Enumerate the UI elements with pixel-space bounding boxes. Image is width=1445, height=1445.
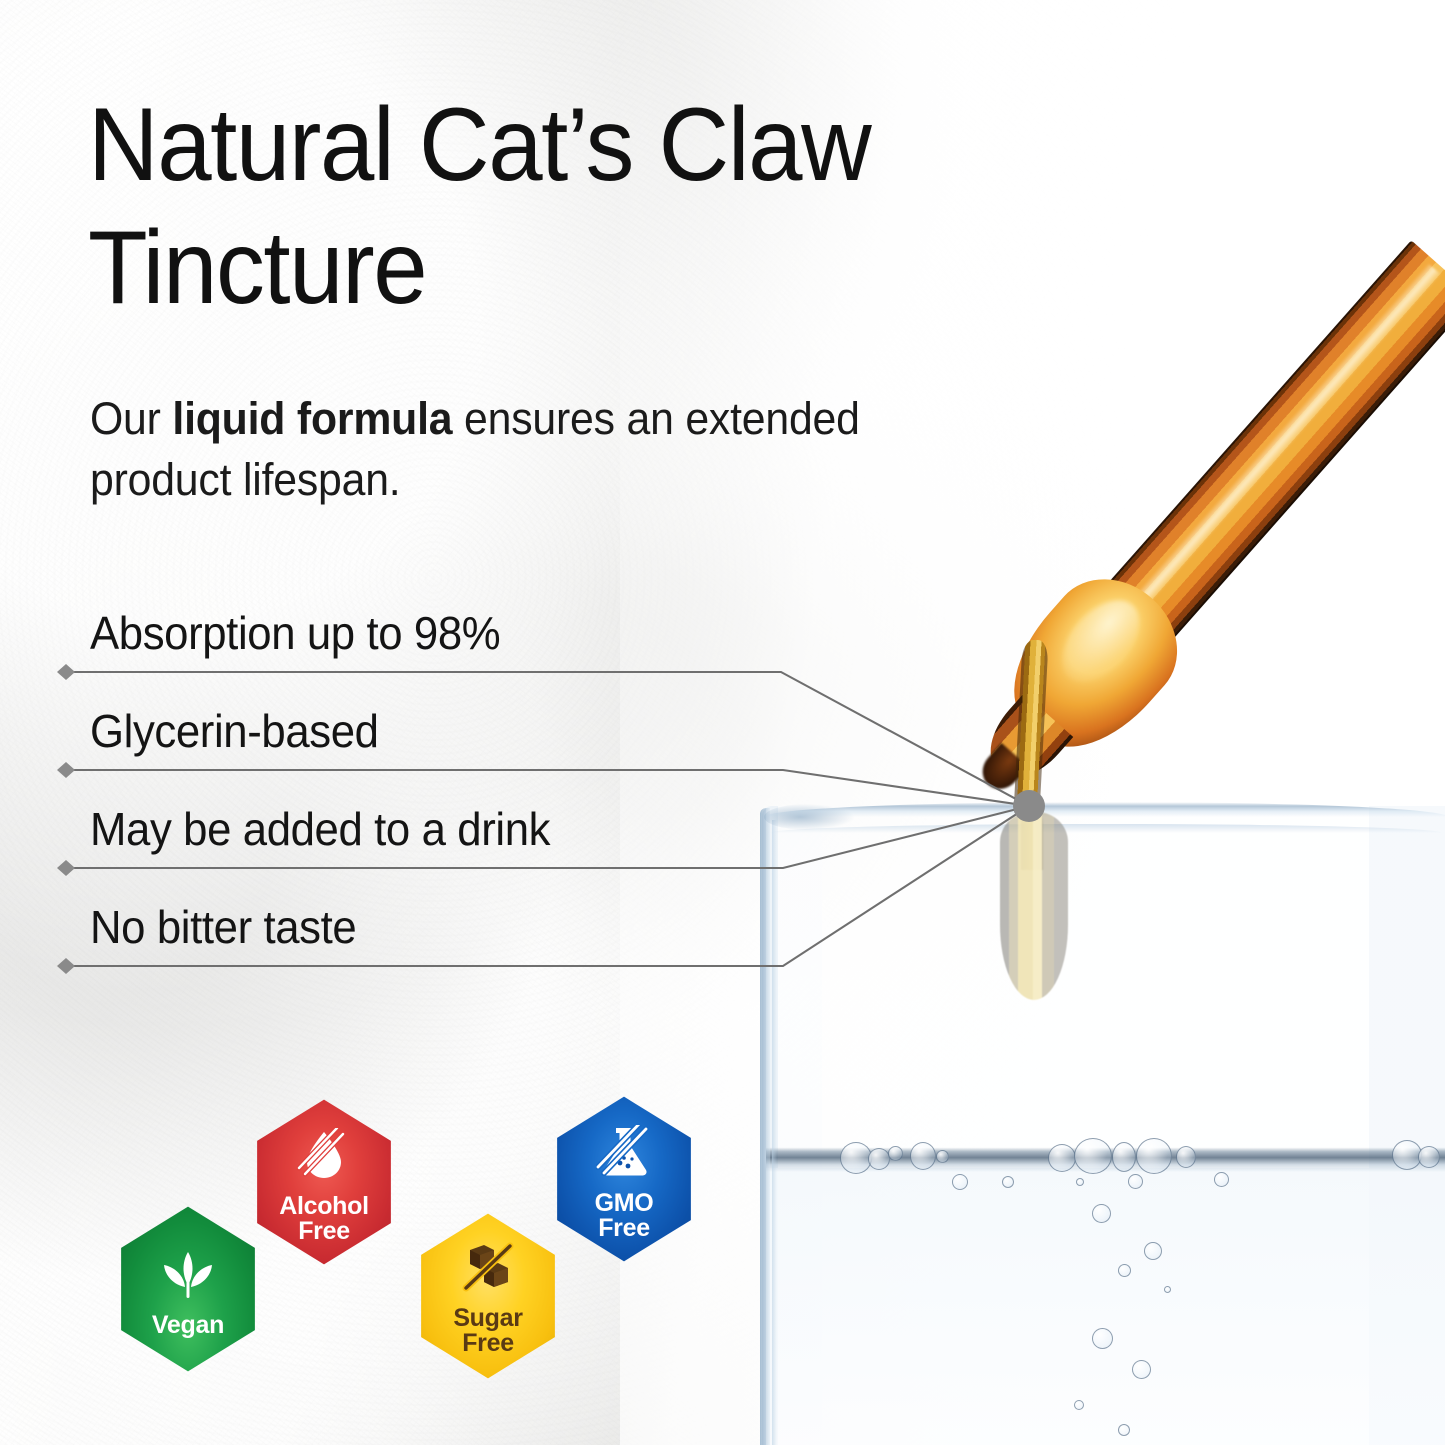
bubble bbox=[1118, 1424, 1130, 1436]
glass-rim-highlight bbox=[764, 804, 854, 830]
feature-label-no-bitter-taste: No bitter taste bbox=[90, 900, 356, 954]
bubble bbox=[1144, 1242, 1162, 1260]
bubble bbox=[910, 1142, 936, 1170]
bubble bbox=[1074, 1400, 1084, 1410]
bubble bbox=[952, 1174, 968, 1190]
bubble bbox=[1074, 1138, 1112, 1174]
badge-label-vegan: Vegan bbox=[152, 1313, 224, 1338]
leaf-icon bbox=[161, 1249, 215, 1306]
feature-label-glycerin: Glycerin-based bbox=[90, 704, 379, 758]
subtitle-prefix: Our bbox=[90, 393, 172, 444]
bubble bbox=[1048, 1144, 1076, 1172]
feature-label-add-to-drink: May be added to a drink bbox=[90, 802, 550, 856]
tincture-droplet bbox=[1000, 812, 1068, 1000]
bubble bbox=[1418, 1146, 1440, 1168]
bubble bbox=[1092, 1204, 1111, 1223]
sugar-cubes-slash-icon bbox=[460, 1242, 516, 1299]
droplet-slash-icon bbox=[297, 1128, 351, 1187]
bubble bbox=[868, 1148, 890, 1170]
glass-left-edge bbox=[760, 808, 770, 1445]
bubble bbox=[1118, 1264, 1131, 1277]
page-title: Natural Cat’s Claw Tincture bbox=[88, 84, 1028, 329]
bubble bbox=[888, 1146, 903, 1161]
bubble bbox=[1076, 1178, 1084, 1186]
feature-label-absorption: Absorption up to 98% bbox=[90, 606, 500, 660]
badge-label-gmo-free: GMO Free bbox=[595, 1191, 654, 1241]
bubble bbox=[1214, 1172, 1229, 1187]
page-subtitle: Our liquid formula ensures an extended p… bbox=[90, 388, 869, 510]
bubble bbox=[1128, 1174, 1143, 1189]
badge-label-sugar-free: Sugar Free bbox=[453, 1306, 522, 1356]
bubble bbox=[1176, 1146, 1196, 1168]
bubble bbox=[1092, 1328, 1113, 1349]
subtitle-emphasis: liquid formula bbox=[172, 393, 452, 444]
bubble bbox=[1112, 1142, 1136, 1172]
flask-slash-icon bbox=[596, 1125, 652, 1184]
product-infographic: Natural Cat’s Claw Tincture Our liquid f… bbox=[0, 0, 1445, 1445]
badge-label-alcohol-free: Alcohol Free bbox=[279, 1194, 369, 1244]
bubble bbox=[1164, 1286, 1171, 1293]
bubble bbox=[936, 1150, 949, 1163]
bubble bbox=[1132, 1360, 1151, 1379]
bubble bbox=[1136, 1138, 1172, 1174]
bubble bbox=[1002, 1176, 1014, 1188]
glass-left-edge-inner bbox=[772, 820, 777, 1445]
